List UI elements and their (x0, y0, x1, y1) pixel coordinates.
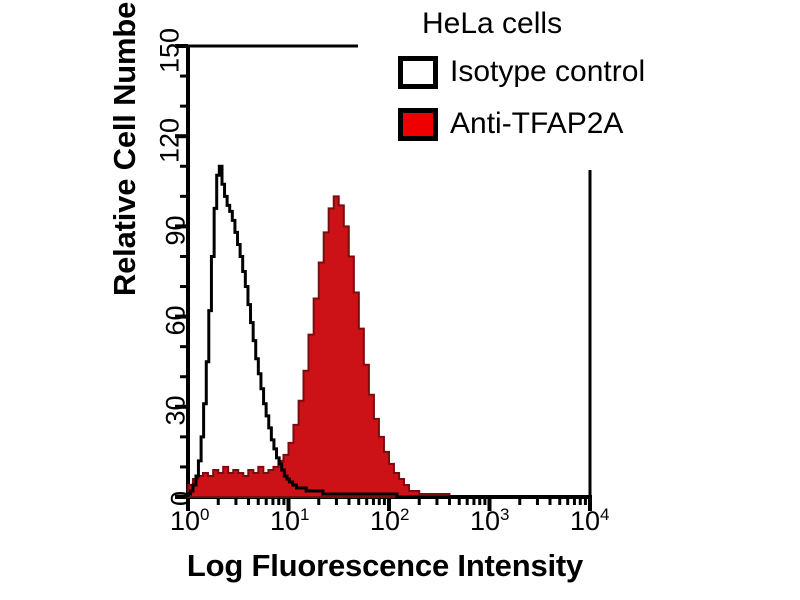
series-anti-tfap2a (188, 196, 590, 497)
series-isotype-control (188, 166, 590, 497)
plot-canvas (0, 0, 800, 600)
flow-cytometry-figure: Relative Cell Number Log Fluorescence In… (0, 0, 800, 600)
